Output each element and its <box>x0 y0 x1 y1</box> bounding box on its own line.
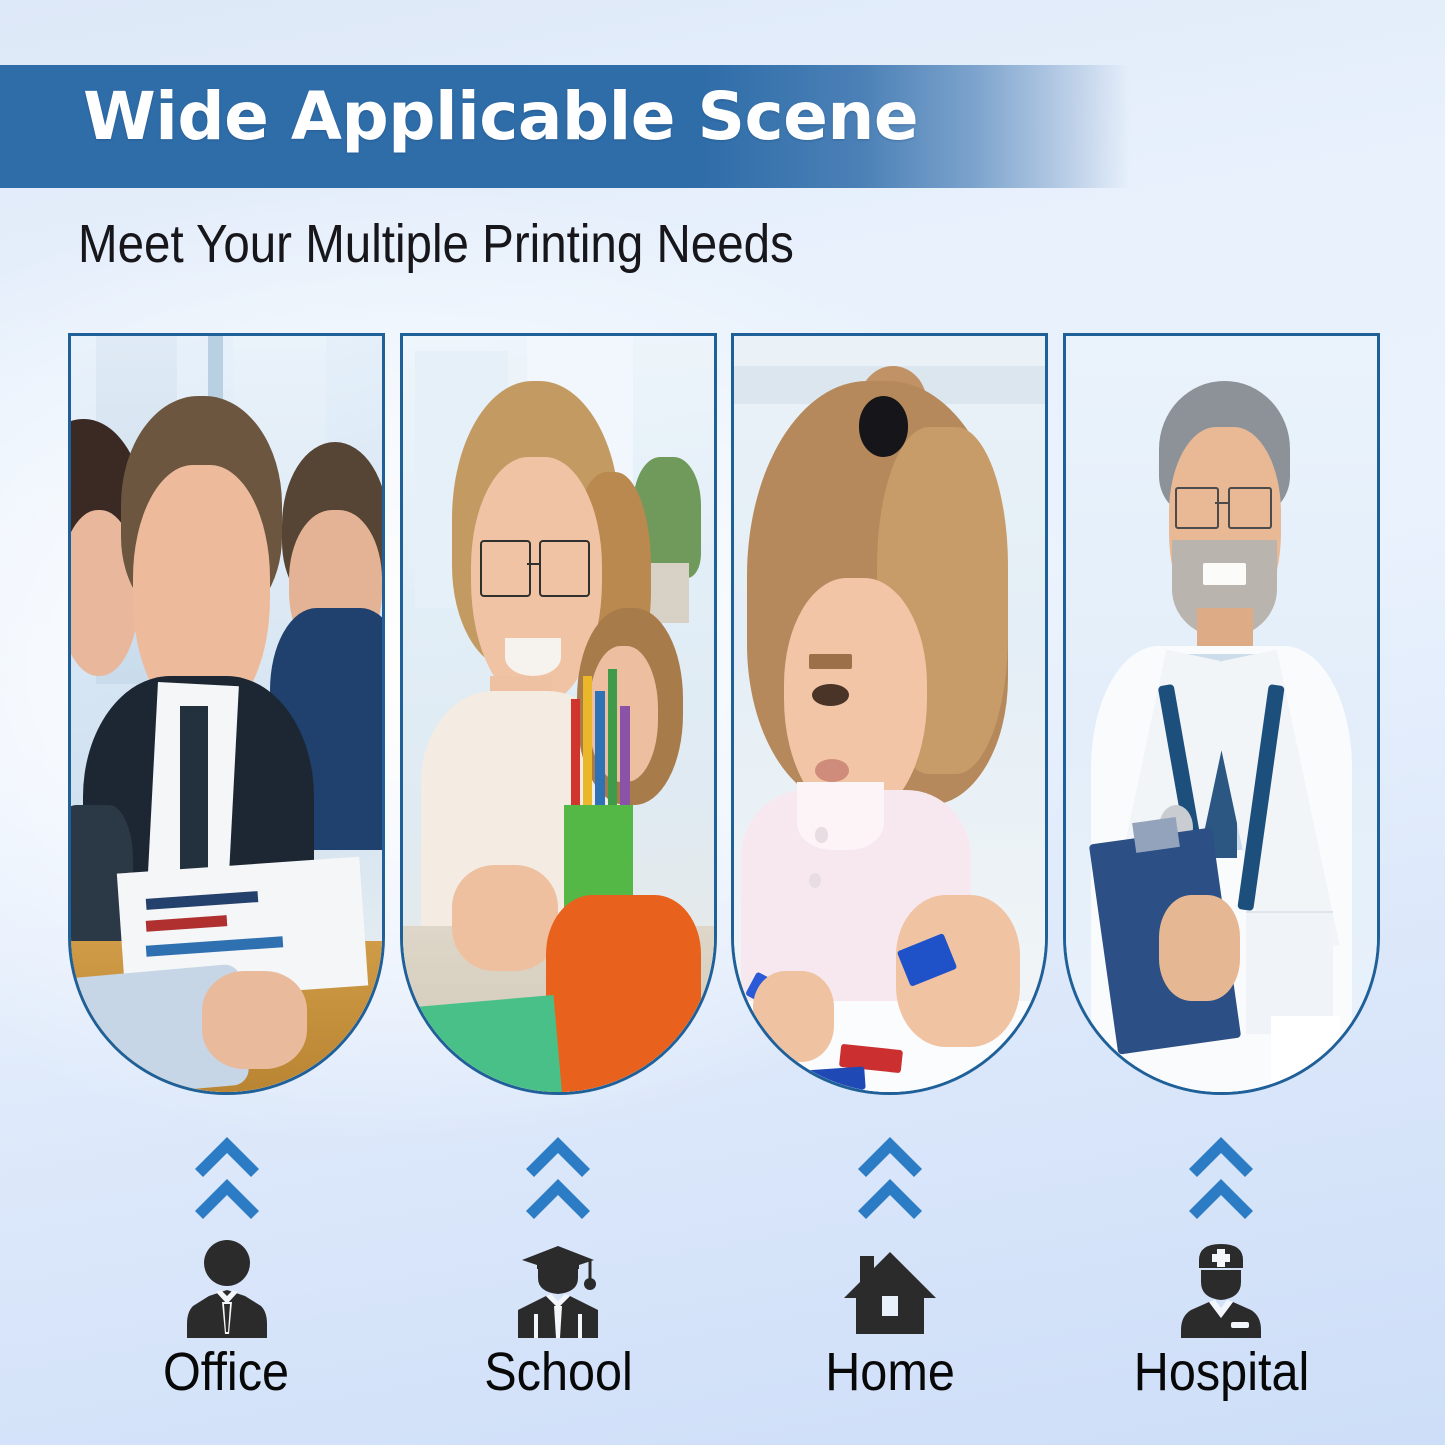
infographic-page: Wide Applicable Scene Meet Your Multiple… <box>0 0 1445 1445</box>
scene-card-school[interactable] <box>400 333 717 1095</box>
house-icon <box>842 1238 938 1342</box>
scene-item-school[interactable]: School <box>400 1238 717 1428</box>
double-chevron-up-icon <box>522 1135 594 1223</box>
scene-label-home: Home <box>825 1344 955 1401</box>
graduate-icon <box>510 1238 606 1342</box>
medic-icon <box>1173 1238 1269 1342</box>
scene-item-home[interactable]: Home <box>731 1238 1048 1428</box>
double-chevron-up-icon <box>854 1135 926 1223</box>
scene-item-office[interactable]: Office <box>68 1238 385 1428</box>
scene-card-row <box>68 333 1380 1095</box>
double-chevron-up-icon <box>1185 1135 1257 1223</box>
chevron-cell-office <box>68 1135 385 1223</box>
chevron-row <box>68 1135 1380 1223</box>
scene-label-office: Office <box>163 1344 289 1401</box>
scene-label-school: School <box>484 1344 633 1401</box>
page-subtitle: Meet Your Multiple Printing Needs <box>78 213 794 275</box>
scene-label-row: Office School <box>68 1238 1380 1428</box>
scene-photo-school <box>403 336 714 1092</box>
scene-photo-office <box>71 336 382 1092</box>
businessman-icon <box>179 1238 275 1342</box>
scene-card-hospital[interactable] <box>1063 333 1380 1095</box>
chevron-cell-school <box>400 1135 717 1223</box>
scene-card-office[interactable] <box>68 333 385 1095</box>
chevron-cell-hospital <box>1063 1135 1380 1223</box>
page-title: Wide Applicable Scene <box>83 78 918 155</box>
double-chevron-up-icon <box>191 1135 263 1223</box>
scene-photo-hospital <box>1066 336 1377 1092</box>
scene-photo-home <box>734 336 1045 1092</box>
scene-card-home[interactable] <box>731 333 1048 1095</box>
scene-label-hospital: Hospital <box>1134 1344 1310 1401</box>
chevron-cell-home <box>731 1135 1048 1223</box>
scene-item-hospital[interactable]: Hospital <box>1063 1238 1380 1428</box>
